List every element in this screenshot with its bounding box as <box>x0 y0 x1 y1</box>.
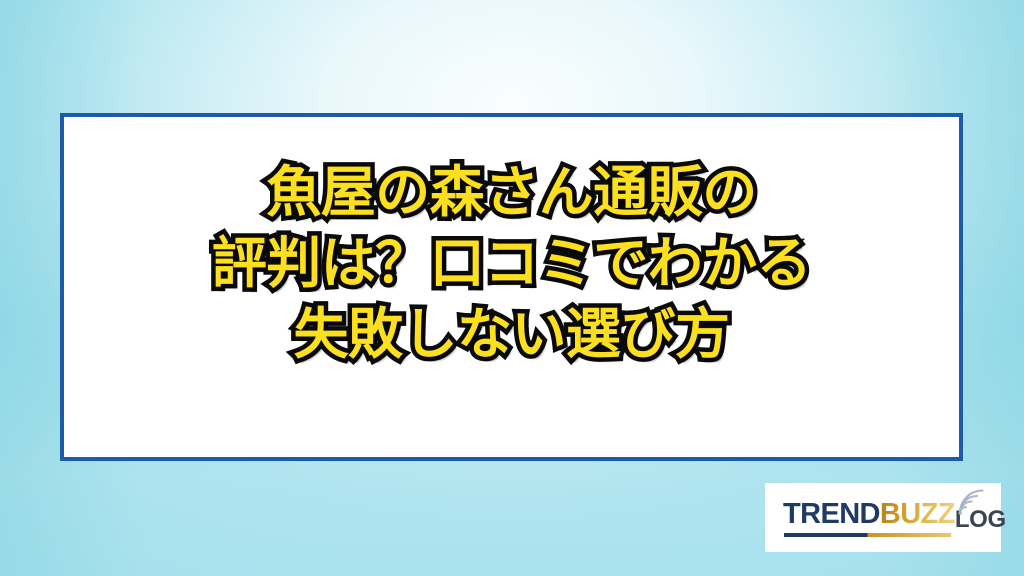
headline-line-3: 失敗しない選び方 <box>64 299 959 370</box>
brand-logo-underline <box>784 533 951 537</box>
brand-logo-buzz: BUZZ <box>880 498 955 530</box>
headline-line-2: 評判は？口コミでわかる <box>64 228 959 299</box>
title-card: 魚屋の森さん通販の 評判は？口コミでわかる 失敗しない選び方 <box>60 113 963 461</box>
brand-logo-inner: TRENDBUZZLOG <box>783 496 983 540</box>
brand-logo: TRENDBUZZLOG <box>765 483 1001 552</box>
headline-block: 魚屋の森さん通販の 評判は？口コミでわかる 失敗しない選び方 <box>64 157 959 370</box>
thumbnail-canvas: 魚屋の森さん通販の 評判は？口コミでわかる 失敗しない選び方 TRENDBUZZ… <box>0 0 1024 576</box>
wifi-signal-icon <box>953 488 985 516</box>
headline-line-1: 魚屋の森さん通販の <box>64 157 959 228</box>
brand-logo-trend: TREND <box>783 498 880 530</box>
